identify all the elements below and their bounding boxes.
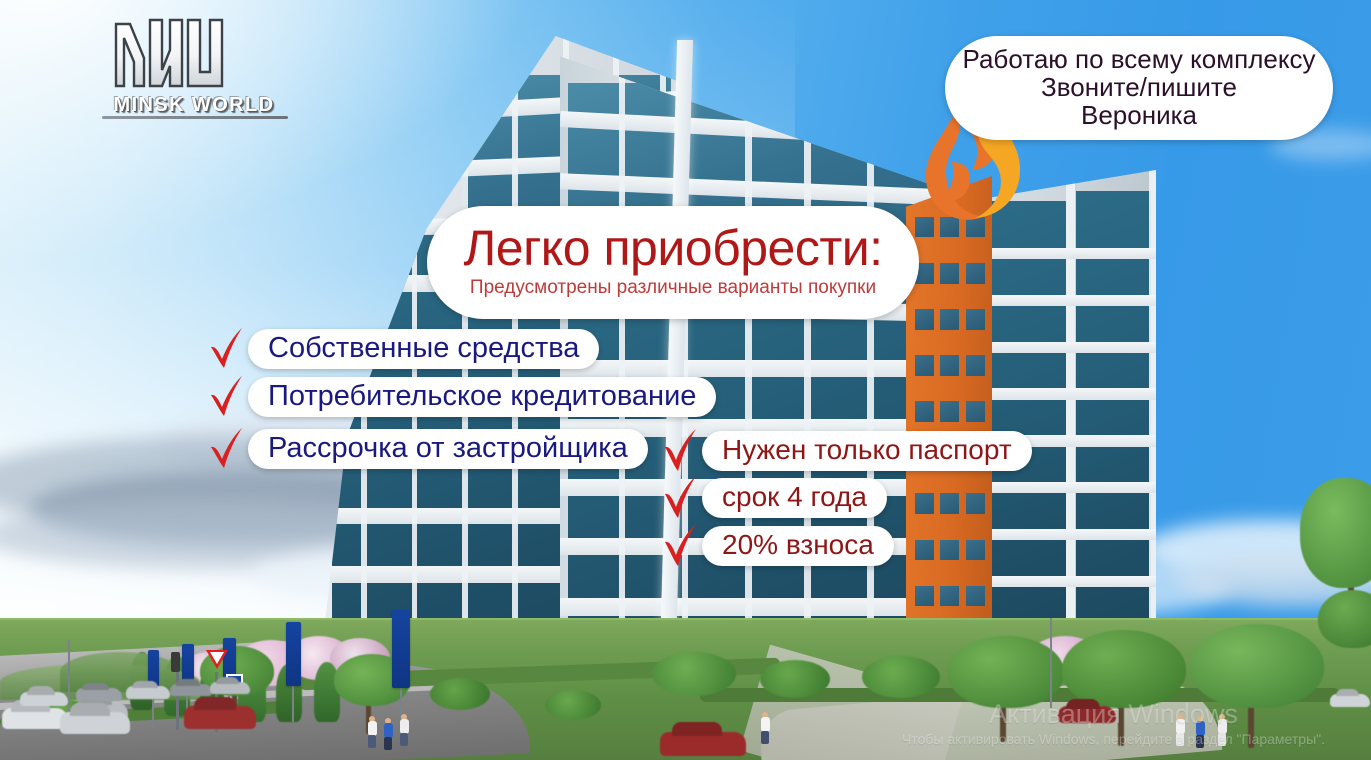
- checklist-item-label: Потребительское кредитование: [248, 377, 716, 417]
- checklist-item[interactable]: Рассрочка от застройщика: [208, 427, 648, 471]
- minsk-world-logo[interactable]: MINSK WORLD: [92, 14, 302, 120]
- checklist-item-label: срок 4 года: [702, 478, 887, 517]
- check-mark-icon: [662, 476, 700, 520]
- headline-title: Легко приобрести:: [463, 223, 882, 273]
- headline-callout: Легко приобрести: Предусмотрены различны…: [427, 206, 919, 319]
- check-mark-icon: [662, 429, 700, 473]
- mw-monogram-icon: [110, 14, 230, 92]
- logo-wordmark: MINSK WORLD: [92, 94, 296, 117]
- logo-underline: [102, 116, 288, 119]
- check-mark-icon: [208, 427, 246, 471]
- checklist-item-label: Собственные средства: [248, 329, 599, 369]
- checklist-item-label: 20% взноса: [702, 526, 894, 565]
- contact-callout[interactable]: Работаю по всему комплексу Звоните/пишит…: [945, 36, 1333, 140]
- contact-line-1: Работаю по всему комплексу: [962, 45, 1315, 73]
- contact-line-3: Вероника: [1081, 101, 1197, 129]
- check-mark-icon: [662, 524, 700, 568]
- checklist-item[interactable]: Собственные средства: [208, 327, 599, 371]
- headline-subtitle: Предусмотрены различные варианты покупки: [470, 278, 876, 299]
- check-mark-icon: [208, 375, 246, 419]
- checklist-item[interactable]: Нужен только паспорт: [662, 429, 1032, 473]
- checklist-item[interactable]: Потребительское кредитование: [208, 375, 716, 419]
- contact-line-2: Звоните/пишите: [1041, 73, 1237, 101]
- check-mark-icon: [208, 327, 246, 371]
- poster-canvas: MINSK WORLD Работаю по всему комплексу З…: [0, 0, 1371, 760]
- checklist-item-label: Нужен только паспорт: [702, 431, 1032, 470]
- checklist-item[interactable]: срок 4 года: [662, 476, 887, 520]
- checklist-item-label: Рассрочка от застройщика: [248, 429, 648, 469]
- checklist-item[interactable]: 20% взноса: [662, 524, 894, 568]
